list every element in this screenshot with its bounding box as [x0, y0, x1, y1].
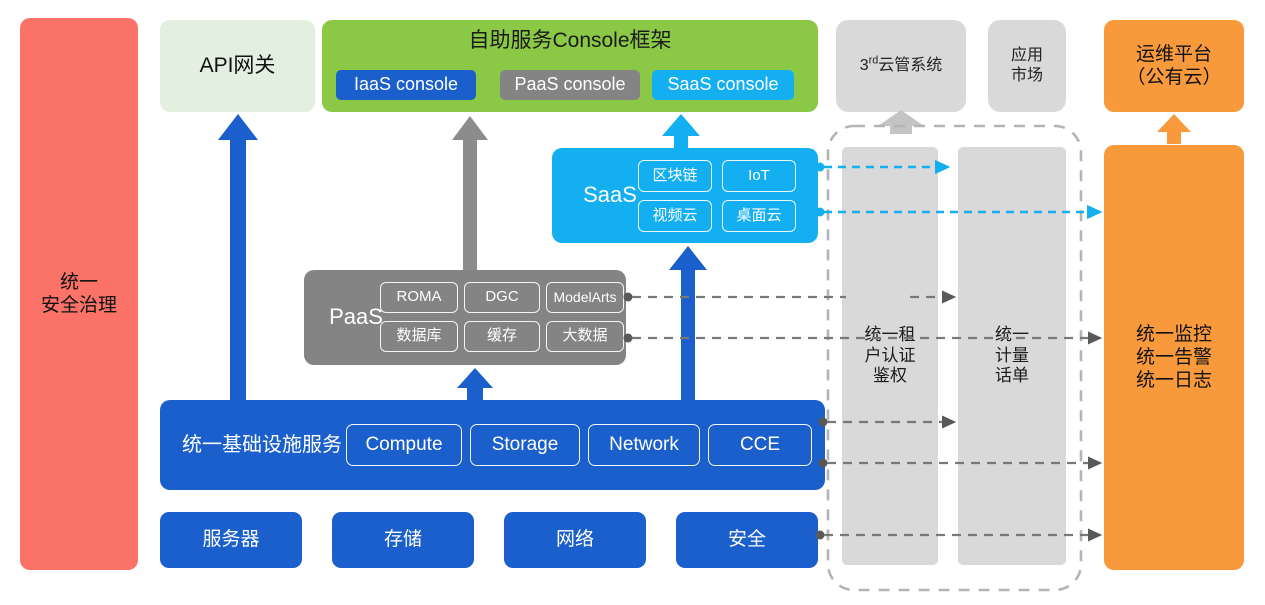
infra-item-cce[interactable]: CCE — [708, 424, 812, 466]
metering-line3: 话单 — [995, 366, 1029, 387]
metering-billing-column: 统一 计量 话单 — [958, 147, 1066, 565]
third-party-label: 3rd云管系统 — [860, 56, 943, 76]
iaas-console-chip[interactable]: IaaS console — [336, 70, 476, 100]
resource-box-security[interactable]: 安全 — [676, 512, 818, 568]
tenant-auth-line1: 统一租 — [865, 325, 916, 346]
flow-paas-to-tenant-auth — [624, 293, 847, 302]
paas-item-label: DGC — [485, 288, 518, 306]
saas-item-label: 视频云 — [652, 207, 697, 225]
saas-item-label: 桌面云 — [736, 207, 781, 225]
unified-infrastructure-label: 统一基础设施服务 — [174, 428, 350, 462]
ops-column-line3: 统一日志 — [1136, 369, 1212, 392]
infra-item-storage[interactable]: Storage — [470, 424, 580, 466]
arrow-infra-to-paas — [457, 368, 493, 400]
unified-infrastructure-box: 统一基础设施服务 Compute Storage Network CCE — [160, 400, 825, 490]
unified-monitoring-column: 统一监控 统一告警 统一日志 — [1104, 145, 1244, 570]
saas-item-iot[interactable]: IoT — [722, 160, 796, 192]
arrow-platform-to-third-party — [878, 110, 924, 134]
arrow-ops-column-to-ops-platform — [1157, 114, 1191, 144]
infra-item-label: Network — [609, 433, 679, 456]
architecture-diagram: 统一 安全治理 API网关 自助服务Console框架 IaaS console… — [0, 0, 1265, 605]
saas-box: SaaS 区块链 IoT 视频云 桌面云 — [552, 148, 818, 243]
resource-box-network[interactable]: 网络 — [504, 512, 646, 568]
paas-item-database[interactable]: 数据库 — [380, 321, 458, 352]
paas-box: PaaS ROMA DGC ModelArts 数据库 缓存 大数据 — [304, 270, 626, 365]
paas-item-label: 数据库 — [396, 327, 441, 345]
ops-platform-line2: （公有云） — [1126, 66, 1221, 89]
ops-platform-line1: 运维平台 — [1136, 43, 1212, 66]
saas-item-blockchain[interactable]: 区块链 — [638, 160, 712, 192]
ops-column-line2: 统一告警 — [1136, 346, 1212, 369]
metering-line1: 统一 — [995, 325, 1029, 346]
third-party-cloud-mgmt-box: 3rd云管系统 — [836, 20, 966, 112]
unified-security-line1: 统一 — [60, 271, 98, 294]
paas-item-bigdata[interactable]: 大数据 — [546, 321, 624, 352]
app-market-line1: 应用 — [1011, 46, 1043, 66]
tenant-auth-line3: 鉴权 — [873, 366, 907, 387]
paas-item-dgc[interactable]: DGC — [464, 282, 540, 313]
paas-item-roma[interactable]: ROMA — [380, 282, 458, 313]
api-gateway-box: API网关 — [160, 20, 315, 112]
unified-security-line2: 安全治理 — [41, 294, 117, 317]
infra-item-compute[interactable]: Compute — [346, 424, 462, 466]
resource-label: 网络 — [556, 528, 594, 551]
unified-security-panel: 统一 安全治理 — [20, 18, 138, 570]
resource-label: 安全 — [728, 528, 766, 551]
saas-item-label: IoT — [748, 167, 770, 185]
resource-label: 存储 — [384, 528, 422, 551]
metering-line2: 计量 — [995, 346, 1029, 367]
saas-console-chip[interactable]: SaaS console — [652, 70, 794, 100]
resource-box-server[interactable]: 服务器 — [160, 512, 302, 568]
saas-console-label: SaaS console — [667, 74, 778, 96]
saas-item-desktop-cloud[interactable]: 桌面云 — [722, 200, 796, 232]
app-market-line2: 市场 — [1011, 66, 1043, 86]
console-frame-box: 自助服务Console框架 IaaS console PaaS console … — [322, 20, 818, 112]
tenant-auth-column: 统一租 户认证 鉴权 — [842, 147, 938, 565]
app-market-box: 应用 市场 — [988, 20, 1066, 112]
arrow-paas-to-console — [452, 116, 488, 270]
console-frame-title: 自助服务Console框架 — [322, 28, 818, 54]
paas-item-modelarts[interactable]: ModelArts — [546, 282, 624, 313]
api-gateway-label: API网关 — [200, 53, 276, 79]
ops-platform-box: 运维平台 （公有云） — [1104, 20, 1244, 112]
paas-item-label: 大数据 — [562, 327, 607, 345]
paas-item-label: 缓存 — [487, 327, 517, 345]
paas-item-label: ROMA — [397, 288, 442, 306]
paas-item-label: ModelArts — [553, 289, 616, 306]
arrow-saas-to-console — [662, 114, 700, 148]
infra-item-label: Storage — [492, 433, 559, 456]
paas-console-label: PaaS console — [514, 74, 625, 96]
infra-item-label: CCE — [740, 433, 780, 456]
iaas-console-label: IaaS console — [354, 74, 458, 96]
resource-box-storage[interactable]: 存储 — [332, 512, 474, 568]
tenant-auth-line2: 户认证 — [865, 346, 916, 367]
arrow-infra-to-apigw — [218, 114, 258, 400]
saas-item-video-cloud[interactable]: 视频云 — [638, 200, 712, 232]
infra-item-network[interactable]: Network — [588, 424, 700, 466]
ops-column-line1: 统一监控 — [1136, 323, 1212, 346]
paas-console-chip[interactable]: PaaS console — [500, 70, 640, 100]
infra-item-label: Compute — [365, 433, 442, 456]
arrow-infra-to-saas — [669, 246, 707, 400]
paas-item-cache[interactable]: 缓存 — [464, 321, 540, 352]
saas-item-label: 区块链 — [652, 167, 697, 185]
resource-label: 服务器 — [202, 528, 259, 551]
